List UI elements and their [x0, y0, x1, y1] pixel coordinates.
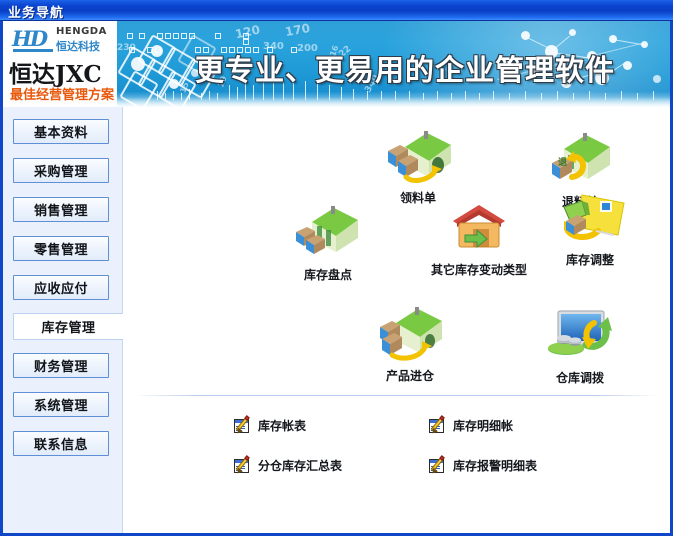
report-link-label: 库存帐表: [258, 417, 306, 434]
report-link-label: 库存报警明细表: [453, 457, 537, 474]
sidebar-item-sales[interactable]: 销售管理: [13, 197, 109, 222]
report-icon: [429, 458, 447, 474]
sidebar-item-purchasing[interactable]: 采购管理: [13, 158, 109, 183]
header-strip: HD HENGDA 恒达科技 恒达JXC 最佳经营管理方案: [3, 21, 670, 107]
icon-tile-material-requisition[interactable]: 领料单: [362, 125, 474, 206]
report-link-stock-detail[interactable]: 库存明细帐: [429, 417, 513, 434]
window-title: 业务导航: [8, 2, 64, 21]
icon-tile-stock-count[interactable]: 库存盘点: [272, 202, 384, 283]
icon-label: 库存盘点: [272, 266, 384, 283]
title-bar: 业务导航: [0, 0, 673, 21]
report-link-label: 库存明细帐: [453, 417, 513, 434]
logo-underline: [13, 49, 53, 52]
report-icon: [234, 458, 252, 474]
navigation-sidebar: 基本资料 采购管理 销售管理 零售管理 应收应付 库存管理 财务管理 系统管理 …: [3, 107, 123, 533]
report-link-stock-alert-detail[interactable]: 库存报警明细表: [429, 457, 537, 474]
window-body: 基本资料 采购管理 销售管理 零售管理 应收应付 库存管理 财务管理 系统管理 …: [3, 107, 670, 533]
icon-label: 库存调整: [534, 251, 646, 268]
warehouse-out-icon: [380, 125, 456, 187]
warehouse-transfer-icon: [542, 305, 618, 367]
product-slogan: 最佳经营管理方案: [10, 84, 114, 103]
sidebar-item-system[interactable]: 系统管理: [13, 392, 109, 417]
icon-tile-stock-adjust[interactable]: 库存调整: [534, 187, 646, 268]
sidebar-item-contact[interactable]: 联系信息: [13, 431, 109, 456]
sidebar-item-retail[interactable]: 零售管理: [13, 236, 109, 261]
icon-tile-warehouse-transfer[interactable]: 仓库调拨: [524, 305, 636, 386]
sidebar-item-receivable-payable[interactable]: 应收应付: [13, 275, 109, 300]
logo-company-cn: 恒达科技: [56, 38, 100, 54]
stock-adjust-icon: [552, 187, 628, 249]
sidebar-item-basic-data[interactable]: 基本资料: [13, 119, 109, 144]
navigation-content-pane: 领料单 退: [124, 107, 670, 533]
other-stock-change-icon: [441, 197, 517, 259]
logo-initials: HD: [12, 27, 46, 51]
logo-company-en: HENGDA: [56, 26, 107, 37]
icon-label: 产品进仓: [354, 367, 466, 384]
report-icon: [234, 418, 252, 434]
business-navigation-window: 业务导航 HD HENGDA 恒达科技 恒达JXC 最佳经营管理方案: [0, 0, 673, 536]
banner-headline: 更专业、更易用的企业管理软件: [195, 47, 615, 89]
svg-text:退: 退: [558, 157, 567, 168]
company-logo-block: HD HENGDA 恒达科技 恒达JXC 最佳经营管理方案: [3, 21, 117, 107]
brand-mark: HD HENGDA 恒达科技: [12, 26, 112, 57]
report-link-warehouse-summary[interactable]: 分仓库存汇总表: [234, 457, 342, 474]
report-icon: [429, 418, 447, 434]
report-link-label: 分仓库存汇总表: [258, 457, 342, 474]
banner-bottom-fade: [117, 97, 670, 107]
sidebar-item-finance[interactable]: 财务管理: [13, 353, 109, 378]
marketing-banner: 230 120 170 340 200 116 22 29 340 15: [117, 21, 670, 107]
icon-label: 其它库存变动类型: [414, 261, 544, 278]
warehouse-return-icon: 退: [542, 129, 618, 191]
icon-tile-goods-in[interactable]: 产品进仓: [354, 303, 466, 384]
sidebar-item-inventory[interactable]: 库存管理: [13, 313, 123, 340]
goods-in-icon: [372, 303, 448, 365]
section-divider: [134, 395, 658, 396]
report-link-stock-ledger[interactable]: 库存帐表: [234, 417, 306, 434]
icon-tile-other-stock-change[interactable]: 其它库存变动类型: [414, 197, 544, 278]
stock-count-icon: [290, 202, 366, 264]
icon-label: 仓库调拨: [524, 369, 636, 386]
